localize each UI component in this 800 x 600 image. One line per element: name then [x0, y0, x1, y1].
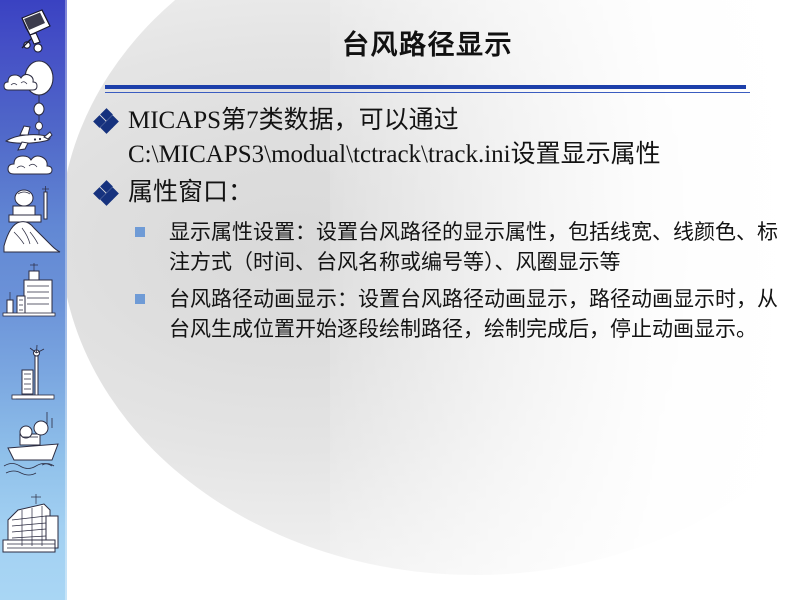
bullet-text: 属性窗口： [128, 179, 253, 206]
bullet-text: MICAPS第7类数据，可以通过C:\MICAPS3\modual\tctrac… [128, 107, 661, 168]
satellite-icon [0, 4, 67, 58]
bullet-level2: 显示属性设置：设置台风路径的显示属性，包括线宽、线颜色、标注方式（时间、台风名称… [95, 217, 795, 277]
square-bullet-icon [135, 227, 145, 237]
title-divider-thick [105, 85, 746, 89]
bullet-level1: MICAPS第7类数据，可以通过C:\MICAPS3\modual\tctrac… [95, 104, 795, 172]
anemometer-icon [0, 340, 67, 406]
cloud-icon [0, 148, 67, 182]
research-ship-icon [0, 410, 67, 480]
weather-building-icon [0, 262, 67, 328]
title-divider-thin [105, 92, 750, 93]
diamond-cluster-bullet-icon [95, 110, 117, 132]
radar-station-icon [0, 186, 67, 256]
sidebar-edge-highlight [65, 0, 67, 600]
observatory-building-icon [0, 490, 67, 566]
cloud-icon [0, 68, 67, 98]
bullet-text: 台风路径动画显示：设置台风路径动画显示，路径动画显示时，从台风生成位置开始逐段绘… [169, 287, 778, 341]
diamond-cluster-bullet-icon [95, 182, 117, 204]
slide-title: 台风路径显示 [105, 26, 750, 64]
slide-canvas: 台风路径显示 MICAPS第7类数据，可以通过C:\MICAPS3\modual… [0, 0, 800, 600]
bullet-level1: 属性窗口： [95, 176, 795, 210]
square-bullet-icon [135, 294, 145, 304]
bullet-level2: 台风路径动画显示：设置台风路径动画显示，路径动画显示时，从台风生成位置开始逐段绘… [95, 284, 795, 344]
bullet-text: 显示属性设置：设置台风路径的显示属性，包括线宽、线颜色、标注方式（时间、台风名称… [169, 220, 778, 274]
slide-body: MICAPS第7类数据，可以通过C:\MICAPS3\modual\tctrac… [95, 104, 795, 344]
decorative-sidebar-strip [0, 0, 67, 600]
